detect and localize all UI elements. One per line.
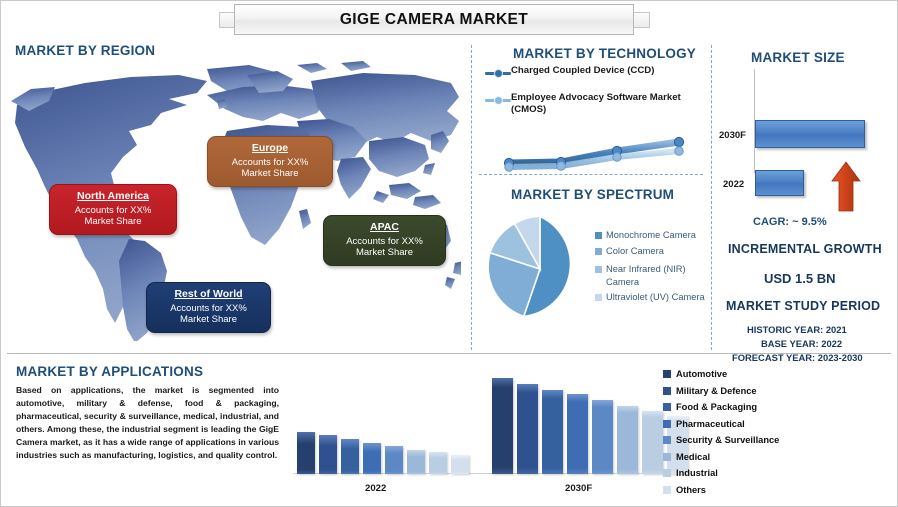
market-size-heading: MARKET SIZE [751, 50, 845, 65]
bar-2030f-industrial [642, 411, 663, 474]
region-box-apac[interactable]: APAC Accounts for XX% Market Share [323, 215, 446, 266]
applications-description: Based on applications, the market is seg… [16, 384, 279, 462]
applications-legend-label: Pharmaceutical [676, 419, 745, 429]
market-size-bar-label-2022: 2022 [723, 179, 744, 190]
bar-2022-industrial [429, 452, 447, 474]
applications-bar-chart: 2022 2030F [293, 372, 663, 496]
legend-swatch-icon [663, 469, 671, 477]
bar-2022-security-surveillance [385, 446, 403, 474]
spectrum-legend-item-color[interactable]: Color Camera [595, 245, 707, 258]
technology-legend-item-ccd[interactable]: Charged Coupled Device (CCD) [485, 65, 705, 78]
legend-swatch-icon [595, 248, 602, 255]
legend-swatch-icon [663, 403, 671, 411]
bar-2022-automotive [297, 432, 315, 474]
bar-2030f-medical [617, 406, 638, 474]
region-line-1: Accounts for XX% [155, 303, 262, 315]
market-size-bar-label-2030f: 2030F [719, 130, 746, 141]
bar-2030f-automotive [492, 378, 513, 474]
region-box-rest-of-world[interactable]: Rest of World Accounts for XX% Market Sh… [146, 282, 271, 333]
page-title-text: GIGE CAMERA MARKET [340, 11, 528, 29]
market-by-applications-heading: MARKET BY APPLICATIONS [16, 364, 203, 379]
technology-legend-label: Employee Advocacy Software Market (CMOS) [511, 92, 707, 116]
region-line-1: Accounts for XX% [216, 157, 324, 169]
region-box-europe[interactable]: Europe Accounts for XX% Market Share [207, 136, 333, 187]
cagr-value: CAGR: ~ 9.5% [753, 216, 827, 228]
applications-legend-label: Automotive [676, 369, 727, 379]
market-size-bar-2030f [755, 120, 865, 148]
market-by-spectrum-heading: MARKET BY SPECTRUM [511, 187, 674, 202]
technology-legend-item-cmos[interactable]: Employee Advocacy Software Market (CMOS) [485, 92, 707, 116]
region-line-2: Market Share [216, 168, 324, 180]
spectrum-legend-item-monochrome[interactable]: Monochrome Camera [595, 229, 707, 242]
spectrum-pie-chart [484, 213, 596, 325]
applications-legend: Automotive Military & Defence Food & Pac… [663, 366, 895, 498]
applications-legend-label: Security & Surveillance [676, 435, 779, 445]
applications-legend-item-security-surveillance[interactable]: Security & Surveillance [663, 432, 895, 449]
spectrum-legend: Monochrome Camera Color Camera Near Infr… [595, 229, 707, 307]
region-line-1: Accounts for XX% [332, 236, 437, 248]
spectrum-legend-label: Color Camera [606, 245, 664, 258]
bar-2022-pharmaceutical [363, 443, 381, 474]
applications-legend-label: Others [676, 485, 706, 495]
market-size-panel: MARKET SIZE 2030F 2022 CAGR: ~ 9.5% INCR… [711, 39, 898, 351]
legend-swatch-icon [595, 294, 602, 301]
market-size-bar-2022 [755, 170, 804, 196]
growth-arrow-icon [830, 161, 862, 213]
legend-swatch-icon [663, 370, 671, 378]
incremental-growth-value: USD 1.5 BN [764, 271, 836, 286]
banner-wing-right [634, 12, 650, 28]
applications-legend-item-automotive[interactable]: Automotive [663, 366, 895, 383]
region-line-2: Market Share [332, 247, 437, 259]
technology-legend-label: Charged Coupled Device (CCD) [511, 65, 654, 77]
applications-legend-label: Industrial [676, 468, 718, 478]
spectrum-legend-label: Monochrome Camera [606, 229, 696, 242]
applications-legend-label: Military & Defence [676, 386, 757, 396]
applications-legend-item-military-defence[interactable]: Military & Defence [663, 383, 895, 400]
study-period-base: BASE YEAR: 2022 [761, 338, 842, 349]
bar-2030f-security-surveillance [592, 400, 613, 474]
line-marker-icon [485, 95, 511, 105]
applications-legend-item-industrial[interactable]: Industrial [663, 465, 895, 482]
infographic-page: GIGE CAMERA MARKET MARKET BY REGION [0, 0, 898, 507]
applications-legend-item-medical[interactable]: Medical [663, 449, 895, 466]
bar-2022-military-defence [319, 435, 337, 474]
legend-swatch-icon [595, 232, 602, 239]
region-line-2: Market Share [155, 314, 262, 326]
region-name: North America [58, 190, 168, 203]
legend-swatch-icon [663, 387, 671, 395]
market-by-applications-panel: MARKET BY APPLICATIONS Based on applicat… [1, 354, 898, 506]
line-marker-icon [485, 68, 511, 78]
legend-swatch-icon [663, 486, 671, 494]
technology-line-chart [499, 129, 699, 177]
market-by-technology-panel: MARKET BY TECHNOLOGY Charged Coupled Dev… [471, 39, 711, 174]
legend-swatch-icon [663, 453, 671, 461]
bar-2030f-pharmaceutical [567, 394, 588, 474]
region-name: APAC [332, 221, 437, 234]
bar-2030f-food-packaging [542, 390, 563, 474]
group-label-2030f: 2030F [565, 483, 592, 494]
region-name: Rest of World [155, 288, 262, 301]
region-name: Europe [216, 142, 324, 155]
legend-swatch-icon [595, 266, 602, 273]
incremental-growth-heading: INCREMENTAL GROWTH [728, 242, 882, 256]
applications-legend-label: Food & Packaging [676, 402, 757, 412]
region-line-1: Accounts for XX% [58, 205, 168, 217]
market-study-period-heading: MARKET STUDY PERIOD [726, 299, 880, 313]
legend-swatch-icon [663, 436, 671, 444]
spectrum-legend-item-nir[interactable]: Near Infrared (NIR) Camera [595, 263, 707, 288]
page-title: GIGE CAMERA MARKET [234, 4, 634, 35]
region-box-north-america[interactable]: North America Accounts for XX% Market Sh… [49, 184, 177, 235]
market-by-region-panel: MARKET BY REGION [1, 39, 471, 351]
market-by-spectrum-panel: MARKET BY SPECTRUM Monochrome Camera Col… [471, 181, 711, 351]
applications-legend-label: Medical [676, 452, 710, 462]
market-by-technology-heading: MARKET BY TECHNOLOGY [513, 46, 696, 61]
bar-2030f-military-defence [517, 384, 538, 474]
legend-swatch-icon [663, 420, 671, 428]
market-by-region-heading: MARKET BY REGION [15, 43, 155, 58]
applications-legend-item-pharmaceutical[interactable]: Pharmaceutical [663, 416, 895, 433]
banner-wing-left [219, 12, 235, 28]
study-period-historic: HISTORIC YEAR: 2021 [747, 324, 847, 335]
bar-2022-others [451, 455, 469, 474]
group-label-2022: 2022 [365, 483, 386, 494]
applications-legend-item-others[interactable]: Others [663, 482, 895, 499]
region-line-2: Market Share [58, 216, 168, 228]
spectrum-legend-item-uv[interactable]: Ultraviolet (UV) Camera [595, 291, 707, 304]
applications-legend-item-food-packaging[interactable]: Food & Packaging [663, 399, 895, 416]
spectrum-legend-label: Ultraviolet (UV) Camera [606, 291, 705, 304]
bar-2022-medical [407, 450, 425, 474]
bar-2022-food-packaging [341, 439, 359, 474]
spectrum-legend-label: Near Infrared (NIR) Camera [606, 263, 707, 288]
